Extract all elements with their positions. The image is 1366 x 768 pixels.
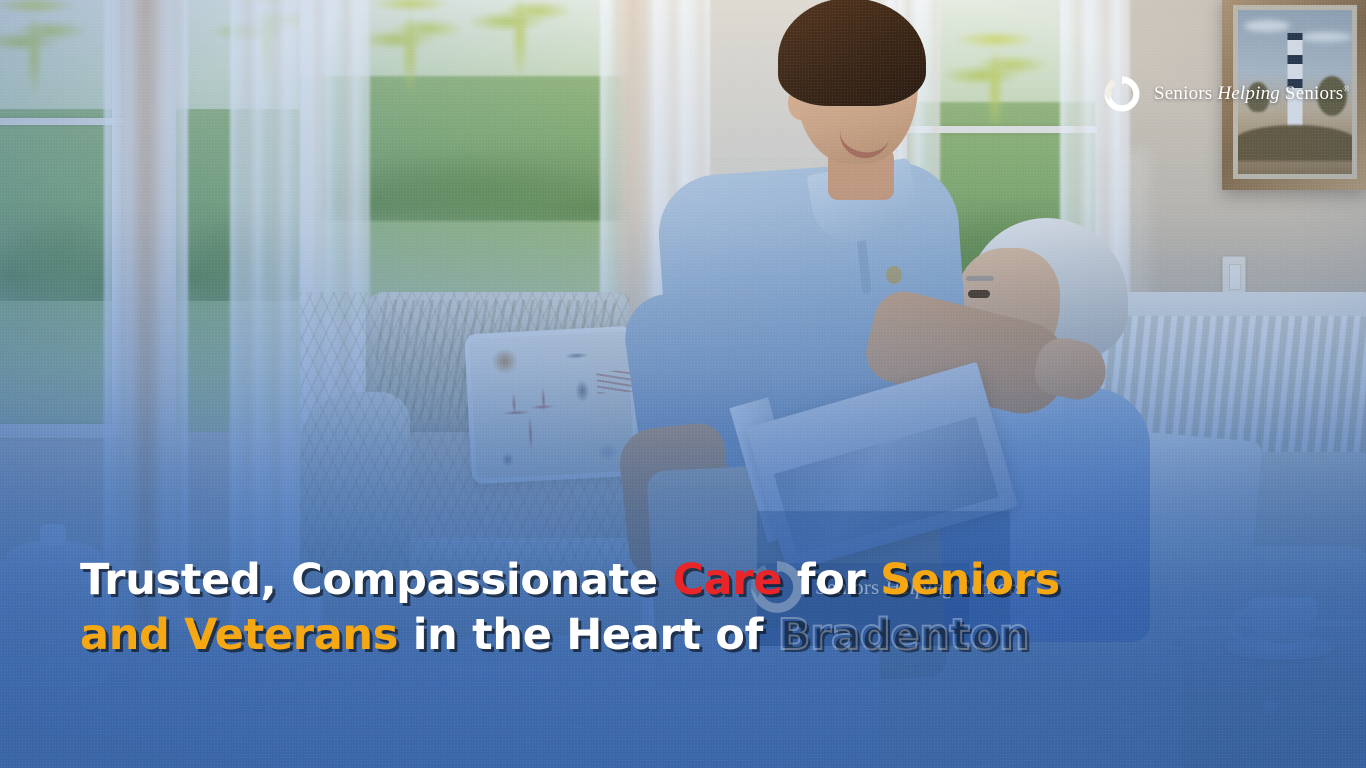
headline-seg-veterans: and Veterans xyxy=(80,610,398,660)
brand-wordmark: Seniors Helping Seniors® xyxy=(1154,83,1350,105)
hero-headline: Trusted, Compassionate Care for Seniors … xyxy=(80,553,1080,663)
headline-line-1: Trusted, Compassionate Care for Seniors xyxy=(80,553,1080,608)
headline-seg-bradenton: Bradenton xyxy=(778,610,1030,660)
headline-line-2: and Veterans in the Heart of Bradenton xyxy=(80,608,1080,663)
headline-seg-care: Care xyxy=(672,555,782,605)
brand-logo[interactable]: Seniors Helping Seniors® xyxy=(1102,74,1350,114)
hero-banner: Seniors Helping Seniors® Seniors Helping… xyxy=(0,0,1366,768)
headline-seg-trusted: Trusted, Compassionate xyxy=(80,555,672,605)
headline-seg-heartof: in the Heart of xyxy=(398,610,778,660)
headline-seg-seniors: Seniors xyxy=(880,555,1060,605)
circular-arrows-ring-icon xyxy=(1102,74,1142,114)
brand-word-2: Helping xyxy=(1217,83,1280,104)
brand-word-1: Seniors xyxy=(1154,83,1217,104)
headline-seg-for: for xyxy=(782,555,880,605)
brand-word-3: Seniors xyxy=(1280,83,1343,104)
brand-trademark: ® xyxy=(1343,85,1349,94)
